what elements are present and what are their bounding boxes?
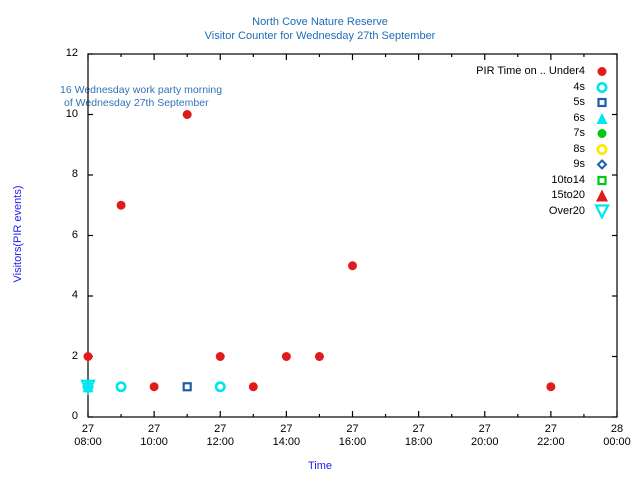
- x-tick-time: 10:00: [124, 436, 184, 449]
- x-tick-day: 27: [455, 423, 515, 436]
- x-tick-day: 27: [256, 423, 316, 436]
- legend-item-5s[interactable]: 5s: [573, 95, 585, 110]
- x-tick-day: 28: [587, 423, 640, 436]
- x-tick-label: 2718:00: [389, 423, 449, 449]
- x-tick-day: 27: [124, 423, 184, 436]
- legend-item-label: 8s: [573, 143, 585, 155]
- series-5s: [184, 383, 191, 390]
- x-tick-time: 14:00: [256, 436, 316, 449]
- x-tick-time: 18:00: [389, 436, 449, 449]
- legend-item-label: 5s: [573, 96, 585, 108]
- legend-item-label: 7s: [573, 127, 585, 139]
- legend-marker-diamond-open-icon: [593, 157, 611, 172]
- legend-item-under4[interactable]: PIR Time on .. Under4: [476, 64, 585, 79]
- y-tick-label: 10: [26, 108, 78, 120]
- legend-item-label: PIR Time on .. Under4: [476, 65, 585, 77]
- legend-item-label: 9s: [573, 158, 585, 170]
- x-tick-time: 00:00: [587, 436, 640, 449]
- x-tick-day: 27: [323, 423, 383, 436]
- y-tick-label: 4: [26, 289, 78, 301]
- x-tick-day: 27: [58, 423, 118, 436]
- x-tick-time: 08:00: [58, 436, 118, 449]
- legend-item-7s[interactable]: 7s: [573, 126, 585, 141]
- x-tick-time: 22:00: [521, 436, 581, 449]
- legend-marker-triangle-up-filled-icon: [593, 111, 611, 126]
- legend-marker-circle-open-icon: [593, 80, 611, 95]
- x-tick-day: 27: [190, 423, 250, 436]
- x-tick-day: 27: [389, 423, 449, 436]
- legend-item-8s[interactable]: 8s: [573, 142, 585, 157]
- x-tick-label: 2708:00: [58, 423, 118, 449]
- legend-item-label: 10to14: [551, 174, 585, 186]
- x-tick-label: 2720:00: [455, 423, 515, 449]
- legend-item-over20[interactable]: Over20: [549, 204, 585, 219]
- x-tick-label: 2722:00: [521, 423, 581, 449]
- series-Under4: [84, 110, 556, 391]
- legend-marker-circle-filled-icon: [593, 126, 611, 141]
- legend-item-label: Over20: [549, 205, 585, 217]
- legend-item-label: 4s: [573, 81, 585, 93]
- legend-item-15to20[interactable]: 15to20: [551, 188, 585, 203]
- legend-item-6s[interactable]: 6s: [573, 111, 585, 126]
- legend-item-9s[interactable]: 9s: [573, 157, 585, 172]
- y-tick-label: 2: [26, 350, 78, 362]
- x-tick-label: 2714:00: [256, 423, 316, 449]
- x-tick-time: 20:00: [455, 436, 515, 449]
- chart-canvas: North Cove Nature Reserve Visitor Counte…: [0, 0, 640, 480]
- legend-marker-square-open-icon: [593, 95, 611, 110]
- legend-marker-circle-filled-icon: [593, 64, 611, 79]
- x-tick-label: 2716:00: [323, 423, 383, 449]
- x-tick-label: 2800:00: [587, 423, 640, 449]
- y-tick-label: 8: [26, 168, 78, 180]
- legend-item-4s[interactable]: 4s: [573, 80, 585, 95]
- legend-item-label: 6s: [573, 112, 585, 124]
- legend-marker-triangle-up-filled-icon: [593, 188, 611, 203]
- legend-item-10to14[interactable]: 10to14: [551, 173, 585, 188]
- x-tick-label: 2712:00: [190, 423, 250, 449]
- x-tick-day: 27: [521, 423, 581, 436]
- legend-item-label: 15to20: [551, 189, 585, 201]
- legend-marker-square-open-icon: [593, 173, 611, 188]
- x-tick-time: 12:00: [190, 436, 250, 449]
- x-tick-time: 16:00: [323, 436, 383, 449]
- y-tick-label: 12: [26, 47, 78, 59]
- y-tick-label: 6: [26, 229, 78, 241]
- x-tick-label: 2710:00: [124, 423, 184, 449]
- y-tick-label: 0: [26, 410, 78, 422]
- legend-marker-circle-open-icon: [593, 142, 611, 157]
- legend-marker-triangle-down-open-icon: [593, 204, 611, 219]
